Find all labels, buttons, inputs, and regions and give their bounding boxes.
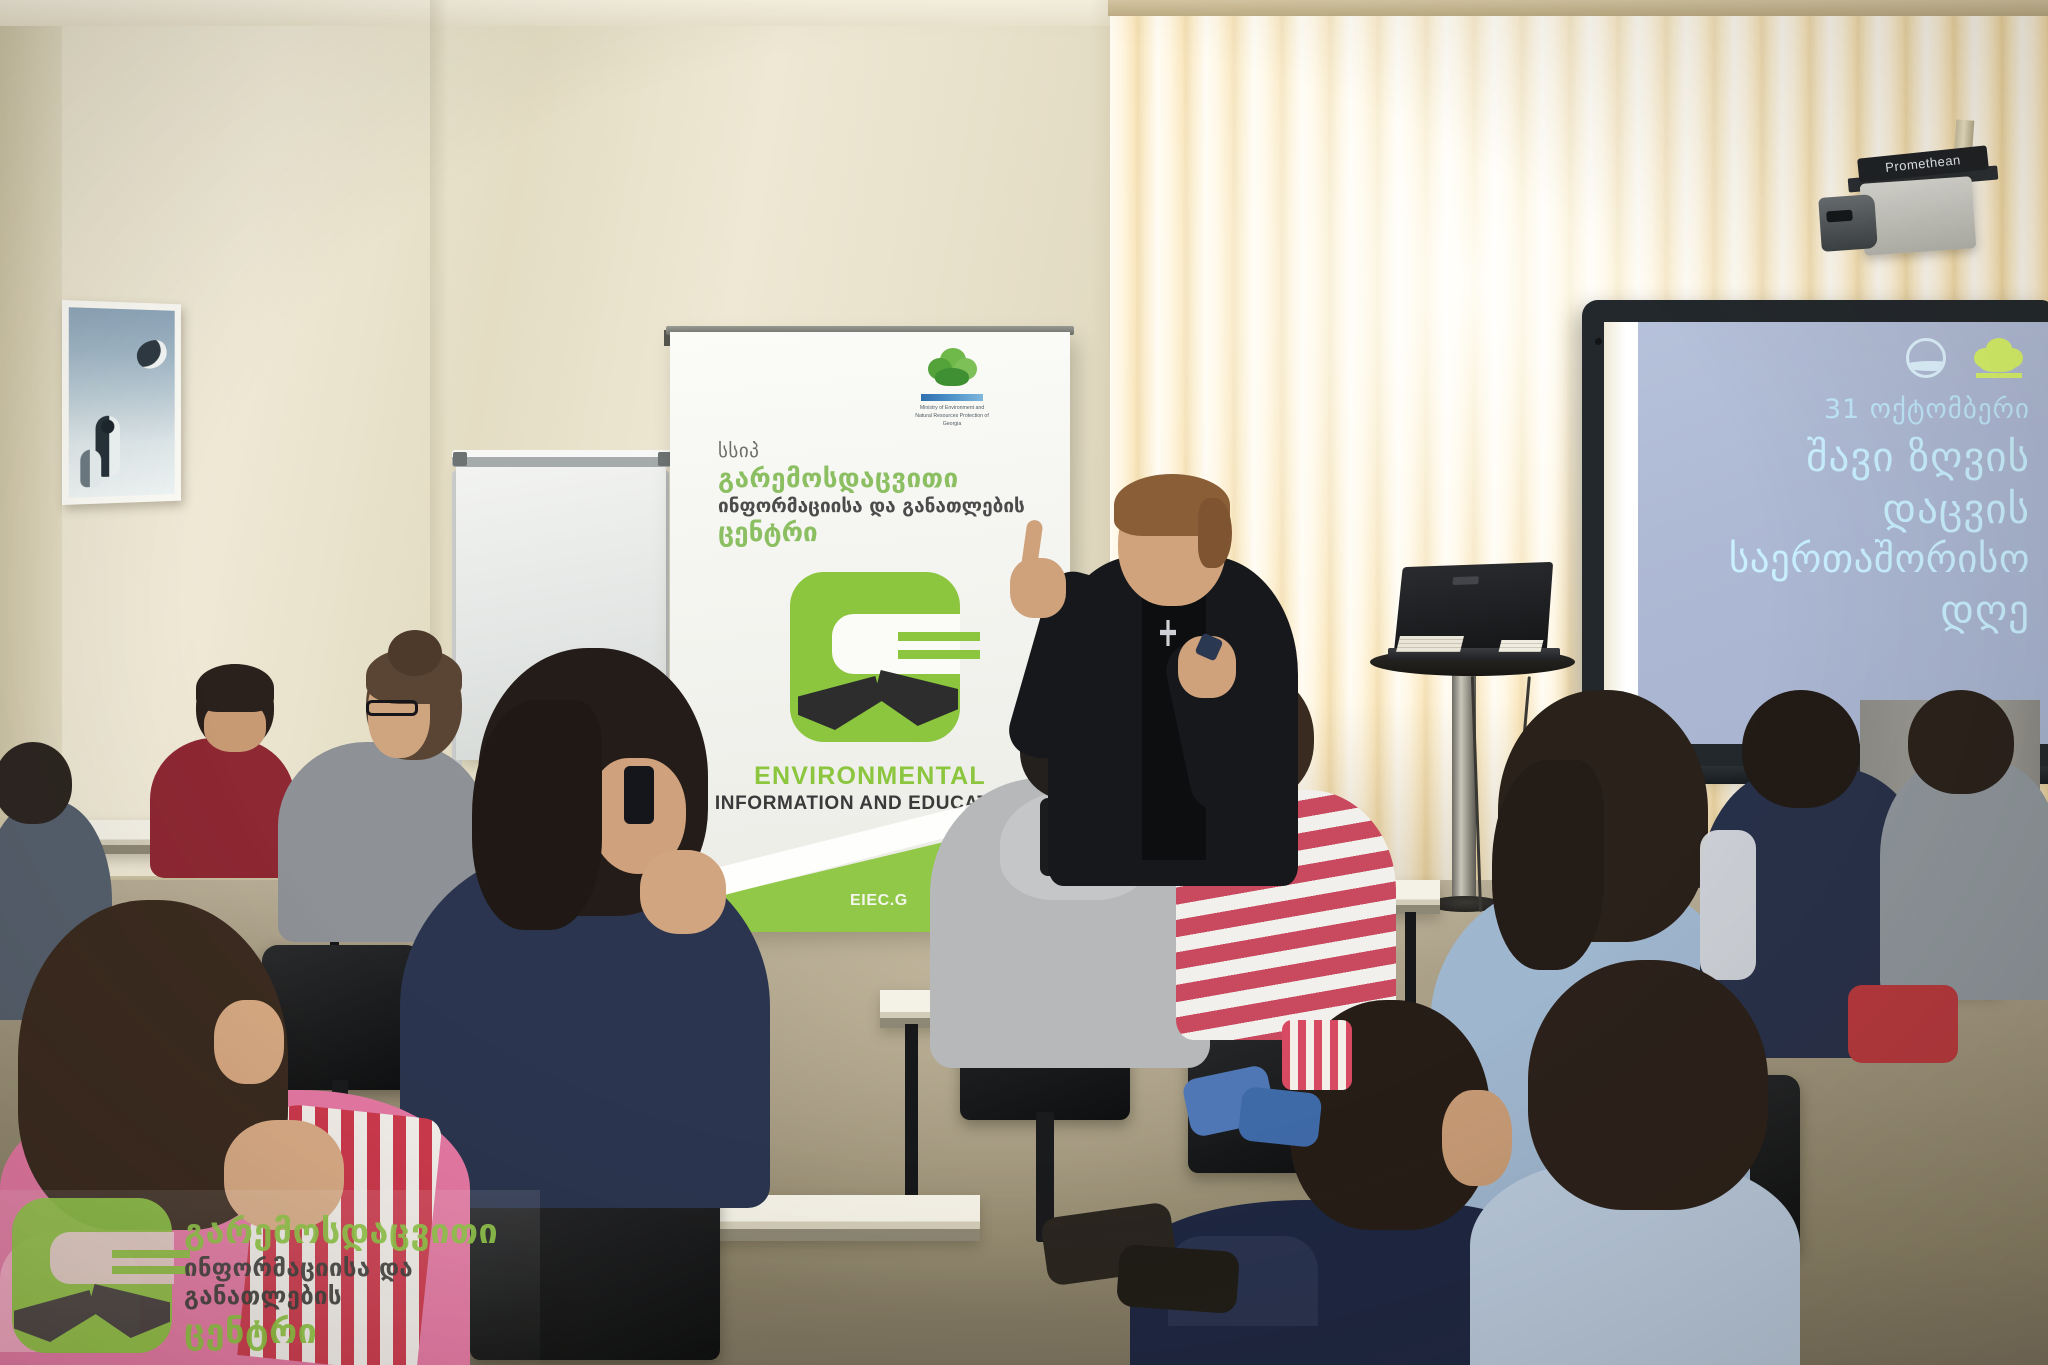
projection-screen[interactable]: 31 ოქტომბერი შავი ზღვის დაცვის საერთაშორ… [1604, 322, 2048, 744]
ceiling-edge [0, 0, 1160, 26]
watermark-logo: გარემოსდაცვითი ინფორმაციისა და განათლები… [12, 1190, 532, 1360]
whale-icon [133, 337, 170, 373]
ministry-tree-icon [926, 348, 978, 392]
earphone [624, 766, 654, 824]
shoe [1116, 1244, 1240, 1314]
eiec-logo-mark [790, 572, 960, 742]
banner-name-line2: ინფორმაციისა და განათლების [718, 495, 1038, 517]
whiteboard-status-led [1595, 338, 1602, 345]
ministry-logo-caption: Ministry of Environment and Natural Reso… [913, 405, 991, 428]
slide-line-4: საერთაშორისო [1638, 537, 2030, 582]
ministry-water-icon [921, 394, 983, 401]
watermark-text: გარემოსდაცვითი ინფორმაციისა და განათლები… [184, 1212, 544, 1352]
watermark-line2: ინფორმაციისა და განათლების [184, 1254, 544, 1310]
watermark-line3: ცენტრი [184, 1312, 544, 1352]
papers-stack [1396, 636, 1464, 652]
hair [1492, 760, 1604, 970]
slide-date-line: 31 ოქტომბერი [1638, 394, 2030, 425]
hair-bun [388, 630, 442, 676]
penguin-chick-icon [80, 449, 101, 487]
projector-body [1860, 176, 1977, 256]
sleeve-stripe [1700, 830, 1756, 980]
screen-left-white-band [1604, 322, 1638, 744]
laptop-brand-logo [1452, 576, 1479, 585]
eyeglasses [366, 700, 418, 716]
slide-line-5: დღე [1638, 586, 2030, 634]
shoe [1237, 1086, 1322, 1148]
slide-logo-row [1638, 338, 2024, 380]
hair [472, 700, 602, 930]
watermark-line1: გარემოსდაცვითი [184, 1212, 544, 1252]
ear-and-cheek [214, 1000, 284, 1084]
flipchart-clip-left[interactable] [453, 452, 467, 466]
presenter-hair-back [1198, 498, 1232, 568]
watermark-mark [12, 1198, 172, 1353]
banner-name-line1: გარემოსდაცვითი [718, 464, 1038, 494]
presenter-hand-left [1010, 558, 1066, 618]
tree-icon [1972, 338, 2024, 380]
framed-poster [62, 300, 181, 505]
ear [1442, 1090, 1512, 1186]
presentation-slide: 31 ოქტომბერი შავი ზღვის დაცვის საერთაშორ… [1638, 322, 2048, 744]
poster-image [69, 307, 175, 498]
red-bag [1848, 985, 1958, 1063]
desk-leg [905, 1024, 918, 1214]
banner-org-prefix: სსიპ [718, 440, 1038, 462]
ministry-logo: Ministry of Environment and Natural Reso… [913, 348, 991, 426]
banner-name-line3: ცენტრი [718, 518, 1038, 548]
slide-line-3: დაცვის [1638, 485, 2030, 533]
sock [1282, 1020, 1352, 1090]
papers-stack-2 [1499, 640, 1544, 652]
classroom-scene: Ministry of Environment and Natural Reso… [0, 0, 2048, 1365]
wave-circle-icon [1906, 338, 1946, 378]
slide-line-2: შავი ზღვის [1638, 433, 2030, 481]
flipchart-rail [452, 450, 672, 467]
projector-lens [1818, 194, 1878, 252]
banner-url: EIEC.G [850, 892, 908, 910]
hand [640, 850, 726, 934]
blinds-head-rail[interactable] [1108, 0, 2048, 16]
banner-georgian-text: სსიპ გარემოსდაცვითი ინფორმაციისა და განა… [718, 440, 1038, 548]
